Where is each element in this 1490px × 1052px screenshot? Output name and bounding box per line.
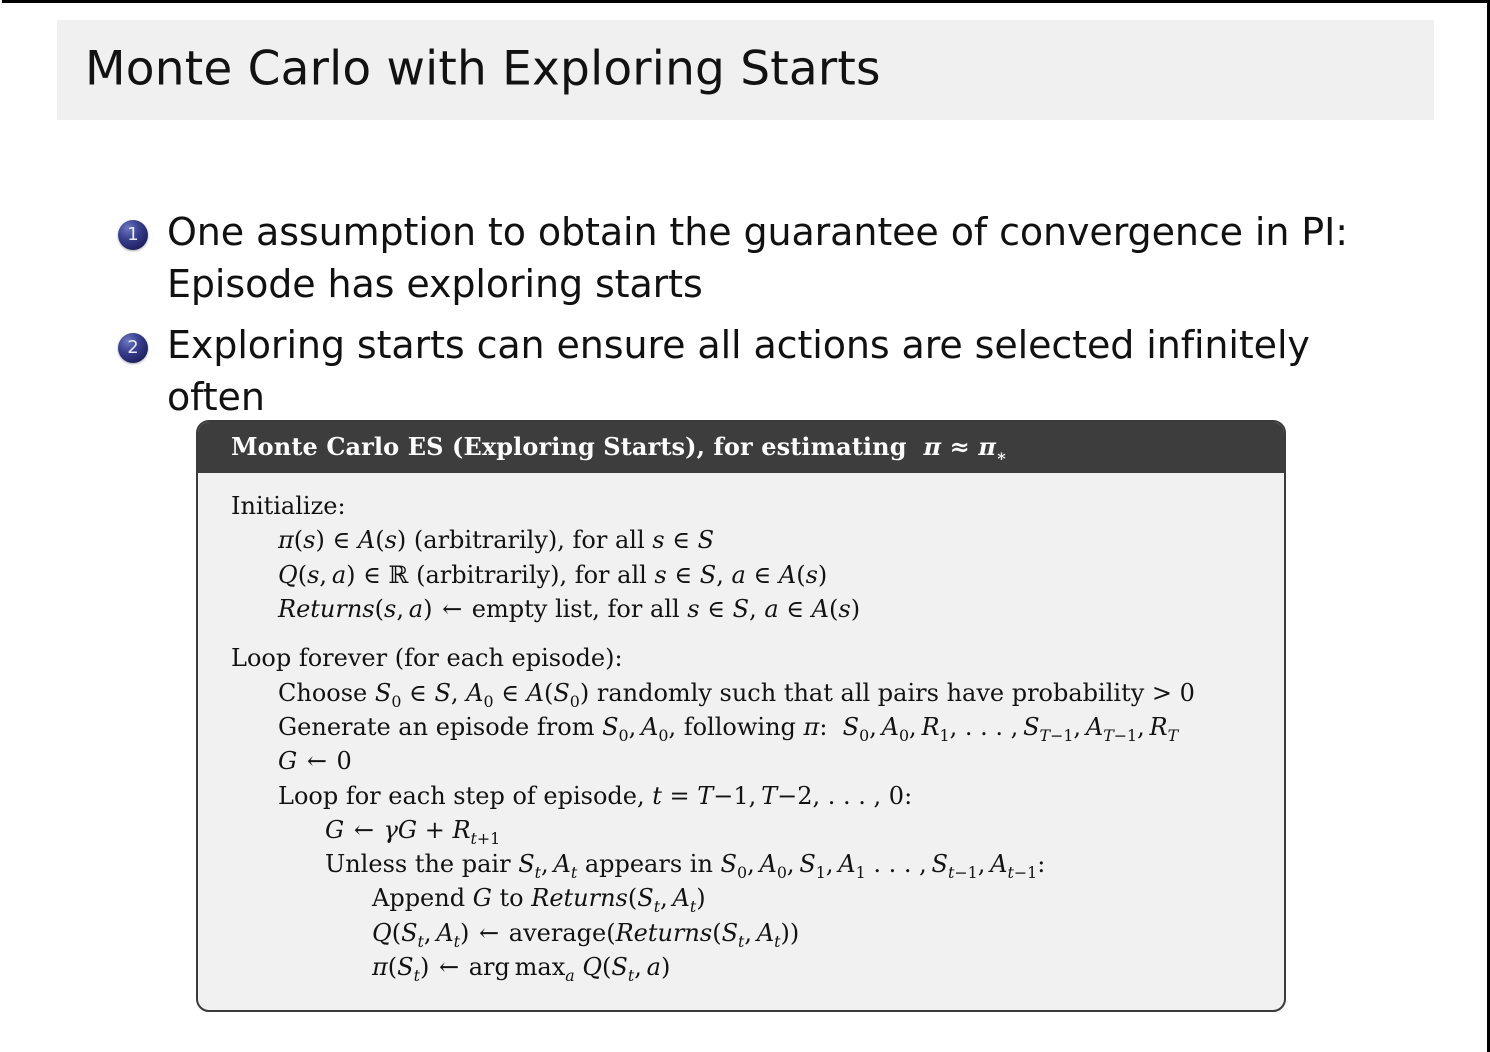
pseudocode-line-generate: Generate an episode from S0, A0, followi…	[231, 710, 1264, 744]
algorithm-box: Monte Carlo ES (Exploring Starts), for e…	[196, 420, 1286, 1012]
pseudocode-line-loop-forever: Loop forever (for each episode):	[231, 641, 1264, 675]
pseudocode-line-choose: Choose S0 ∈ S, A0 ∈ A(S0) randomly such …	[231, 676, 1264, 710]
pseudocode-line-loop-step: Loop for each step of episode, t = T−1, …	[231, 779, 1264, 813]
algorithm-title: Monte Carlo ES (Exploring Starts), for e…	[198, 422, 1284, 473]
pseudocode-line-init-returns: Returns(s, a) ← empty list, for all s ∈ …	[231, 592, 1264, 626]
pseudocode-line-append: Append G to Returns(St, At)	[231, 881, 1264, 915]
pseudocode-line-initialize-label: Initialize:	[231, 489, 1264, 523]
pseudocode-line-init-q: Q(s, a) ∈ ℝ (arbitrarily), for all s ∈ S…	[231, 558, 1264, 592]
pseudocode-line-q-update: Q(St, At) ← average(Returns(St, At))	[231, 916, 1264, 950]
bullet-number-badge-2: 2	[118, 333, 148, 363]
initialize-block: Initialize: π(s) ∈ A(s) (arbitrarily), f…	[231, 489, 1264, 626]
bullet-text-1: One assumption to obtain the guarantee o…	[167, 206, 1418, 311]
list-item: 1 One assumption to obtain the guarantee…	[118, 206, 1418, 311]
bullet-number-badge-1: 1	[118, 220, 148, 250]
list-item: 2 Exploring starts can ensure all action…	[118, 319, 1418, 424]
bullet-list: 1 One assumption to obtain the guarantee…	[118, 206, 1418, 432]
algorithm-title-text: Monte Carlo ES (Exploring Starts), for e…	[231, 432, 907, 461]
pseudocode-line-policy-update: π(St) ← arg maxa Q(St, a)	[231, 950, 1264, 984]
pseudocode-line-g-update: G ← γG + Rt+1	[231, 813, 1264, 847]
algorithm-pseudocode: Initialize: π(s) ∈ A(s) (arbitrarily), f…	[198, 473, 1284, 1010]
slide-frame-left-border	[0, 0, 2, 1052]
bullet-text-2: Exploring starts can ensure all actions …	[167, 319, 1418, 424]
title-band: Monte Carlo with Exploring Starts	[57, 20, 1434, 120]
pseudocode-line-unless: Unless the pair St, At appears in S0, A0…	[231, 847, 1264, 881]
pseudocode-line-g-init: G ← 0	[231, 744, 1264, 778]
page-title: Monte Carlo with Exploring Starts	[85, 41, 881, 96]
loop-forever-block: Loop forever (for each episode): Choose …	[231, 641, 1264, 984]
slide-frame-top-border	[0, 0, 1490, 3]
pseudocode-line-init-policy: π(s) ∈ A(s) (arbitrarily), for all s ∈ S	[231, 523, 1264, 557]
algorithm-title-math: π ≈ π∗	[915, 432, 1007, 461]
